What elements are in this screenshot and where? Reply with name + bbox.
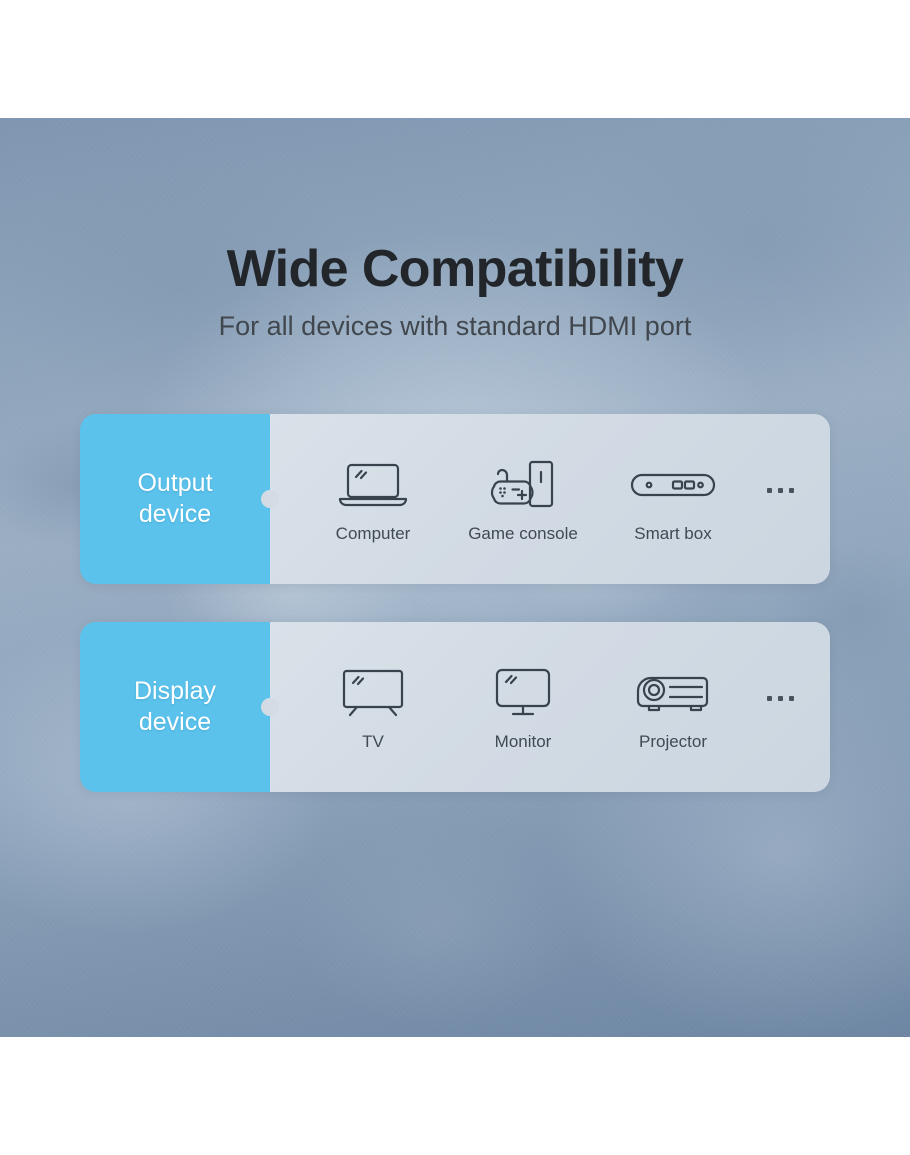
smart-box-icon (630, 454, 716, 516)
device-item-projector[interactable]: Projector (598, 662, 748, 752)
device-label: Smart box (634, 523, 711, 544)
panel-notch (261, 698, 279, 716)
output-device-list: Computer Game console (270, 414, 830, 584)
panel-notch (261, 490, 279, 508)
device-item-monitor[interactable]: Monitor (448, 662, 598, 752)
monitor-icon (492, 662, 554, 724)
display-device-list: TV Monitor (270, 622, 830, 792)
device-item-computer[interactable]: Computer (298, 454, 448, 544)
header-block: Wide Compatibility For all devices with … (0, 238, 910, 343)
more-devices-ellipsis-output[interactable] (748, 488, 812, 511)
ellipsis-dot (789, 696, 794, 701)
projector-icon (634, 662, 712, 724)
game-console-icon (490, 454, 556, 516)
device-label: TV (362, 731, 384, 752)
tv-icon (337, 662, 409, 724)
display-device-label-panel: Display device (80, 622, 270, 792)
laptop-icon (336, 454, 410, 516)
device-label: Monitor (495, 731, 552, 752)
page-subtitle: For all devices with standard HDMI port (0, 309, 910, 343)
device-item-tv[interactable]: TV (298, 662, 448, 752)
display-device-card: Display device TV (80, 622, 830, 792)
ellipsis-dot (767, 696, 772, 701)
ellipsis-dot (767, 488, 772, 493)
display-device-label: Display device (134, 676, 216, 738)
ellipsis-dot (778, 696, 783, 701)
output-device-label-panel: Output device (80, 414, 270, 584)
wide-compatibility-page: Wide Compatibility For all devices with … (0, 0, 910, 1155)
device-label: Game console (468, 523, 578, 544)
output-device-label: Output device (137, 468, 212, 530)
ellipsis-dot (789, 488, 794, 493)
device-label: Computer (336, 523, 411, 544)
page-title: Wide Compatibility (0, 238, 910, 300)
ellipsis-dot (778, 488, 783, 493)
device-item-game-console[interactable]: Game console (448, 454, 598, 544)
device-item-smart-box[interactable]: Smart box (598, 454, 748, 544)
more-devices-ellipsis-display[interactable] (748, 696, 812, 719)
output-device-card: Output device Computer (80, 414, 830, 584)
device-label: Projector (639, 731, 707, 752)
